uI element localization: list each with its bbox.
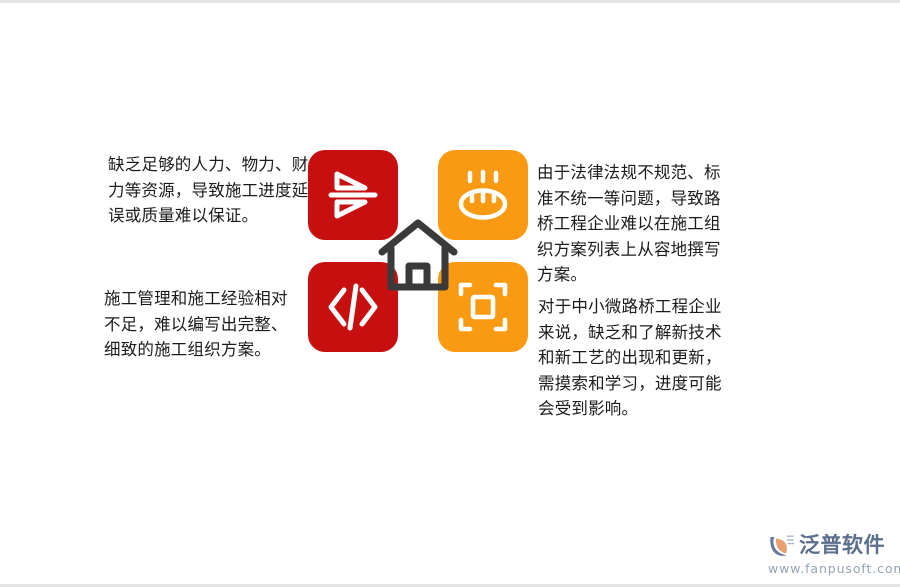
home-icon — [376, 217, 460, 293]
icon-grid — [308, 150, 528, 353]
home-badge[interactable] — [368, 212, 468, 298]
paragraph-left-bottom: 施工管理和施工经验相对不足，难以编写出完整、细致的施工组织方案。 — [104, 286, 294, 363]
brand-logo: 泛普软件 www.fanpusoft.com — [768, 530, 894, 580]
paragraph-left-top: 缺乏足够的人力、物力、财力等资源，导致施工进度延误或质量难以保证。 — [108, 152, 313, 229]
page-canvas: 缺乏足够的人力、物力、财力等资源，导致施工进度延误或质量难以保证。 施工管理和施… — [0, 0, 900, 587]
paragraph-right-bottom: 对于中小微路桥工程企业来说，缺乏和了解新技术和新工艺的出现和更新，需摸索和学习，… — [538, 294, 734, 422]
logo-url: www.fanpusoft.com — [768, 561, 894, 576]
logo-name: 泛普软件 — [799, 532, 885, 559]
paragraph-right-top: 由于法律法规不规范、标准不统一等问题，导致路桥工程企业难以在施工组织方案列表上从… — [537, 160, 733, 288]
fanpu-logo-mark — [768, 532, 795, 559]
logo-row: 泛普软件 — [768, 530, 894, 560]
content-area: 缺乏足够的人力、物力、财力等资源，导致施工进度延误或质量难以保证。 施工管理和施… — [0, 3, 900, 533]
